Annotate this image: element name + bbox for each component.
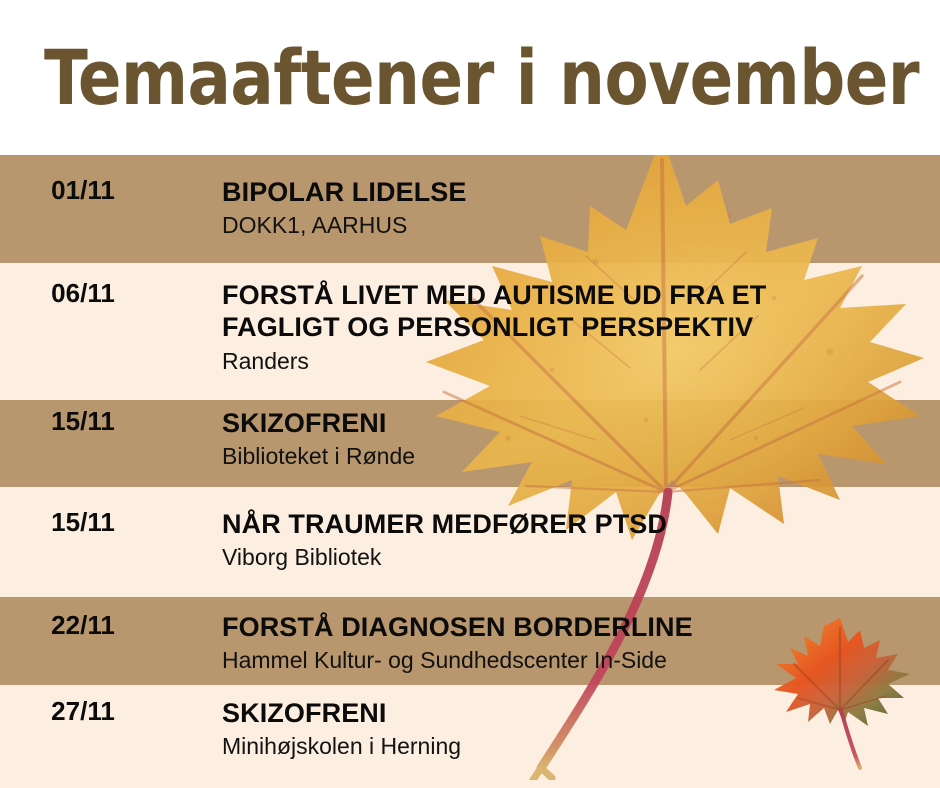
- event-row-4[interactable]: 15/11 NÅR TRAUMER MEDFØRER PTSD Viborg B…: [0, 508, 940, 572]
- event-row-2[interactable]: 06/11 FORSTÅ LIVET MED AUTISME UD FRA ET…: [0, 279, 940, 376]
- event-date: 01/11: [0, 176, 160, 204]
- poster-canvas: 01/11 BIPOLAR LIDELSE DOKK1, AARHUS 06/1…: [0, 0, 940, 788]
- event-date: 22/11: [0, 611, 160, 639]
- event-venue: Viborg Bibliotek: [222, 543, 940, 572]
- event-row-1[interactable]: 01/11 BIPOLAR LIDELSE DOKK1, AARHUS: [0, 176, 940, 240]
- event-title: SKIZOFRENI: [222, 407, 940, 439]
- title-banner: Temaaftener i november: [0, 0, 940, 155]
- event-title: FORSTÅ LIVET MED AUTISME UD FRA ET FAGLI…: [222, 279, 940, 344]
- event-venue: Minihøjskolen i Herning: [222, 732, 940, 761]
- event-row-5[interactable]: 22/11 FORSTÅ DIAGNOSEN BORDERLINE Hammel…: [0, 611, 940, 675]
- event-body: BIPOLAR LIDELSE DOKK1, AARHUS: [160, 176, 940, 240]
- event-row-6[interactable]: 27/11 SKIZOFRENI Minihøjskolen i Herning: [0, 697, 940, 761]
- event-venue: Hammel Kultur- og Sundhedscenter In-Side: [222, 646, 940, 675]
- event-body: SKIZOFRENI Biblioteket i Rønde: [160, 407, 940, 471]
- event-venue: Biblioteket i Rønde: [222, 442, 940, 471]
- event-date: 15/11: [0, 407, 160, 435]
- event-venue: DOKK1, AARHUS: [222, 211, 940, 240]
- page-title: Temaaftener i november: [44, 40, 919, 116]
- event-body: FORSTÅ DIAGNOSEN BORDERLINE Hammel Kultu…: [160, 611, 940, 675]
- event-title: FORSTÅ DIAGNOSEN BORDERLINE: [222, 611, 940, 643]
- event-date: 06/11: [0, 279, 160, 307]
- event-date: 15/11: [0, 508, 160, 536]
- event-body: NÅR TRAUMER MEDFØRER PTSD Viborg Bibliot…: [160, 508, 940, 572]
- event-title: NÅR TRAUMER MEDFØRER PTSD: [222, 508, 940, 540]
- event-title: BIPOLAR LIDELSE: [222, 176, 940, 208]
- event-body: SKIZOFRENI Minihøjskolen i Herning: [160, 697, 940, 761]
- event-body: FORSTÅ LIVET MED AUTISME UD FRA ET FAGLI…: [160, 279, 940, 376]
- event-date: 27/11: [0, 697, 160, 725]
- event-venue: Randers: [222, 347, 940, 376]
- event-row-3[interactable]: 15/11 SKIZOFRENI Biblioteket i Rønde: [0, 407, 940, 471]
- event-title: SKIZOFRENI: [222, 697, 940, 729]
